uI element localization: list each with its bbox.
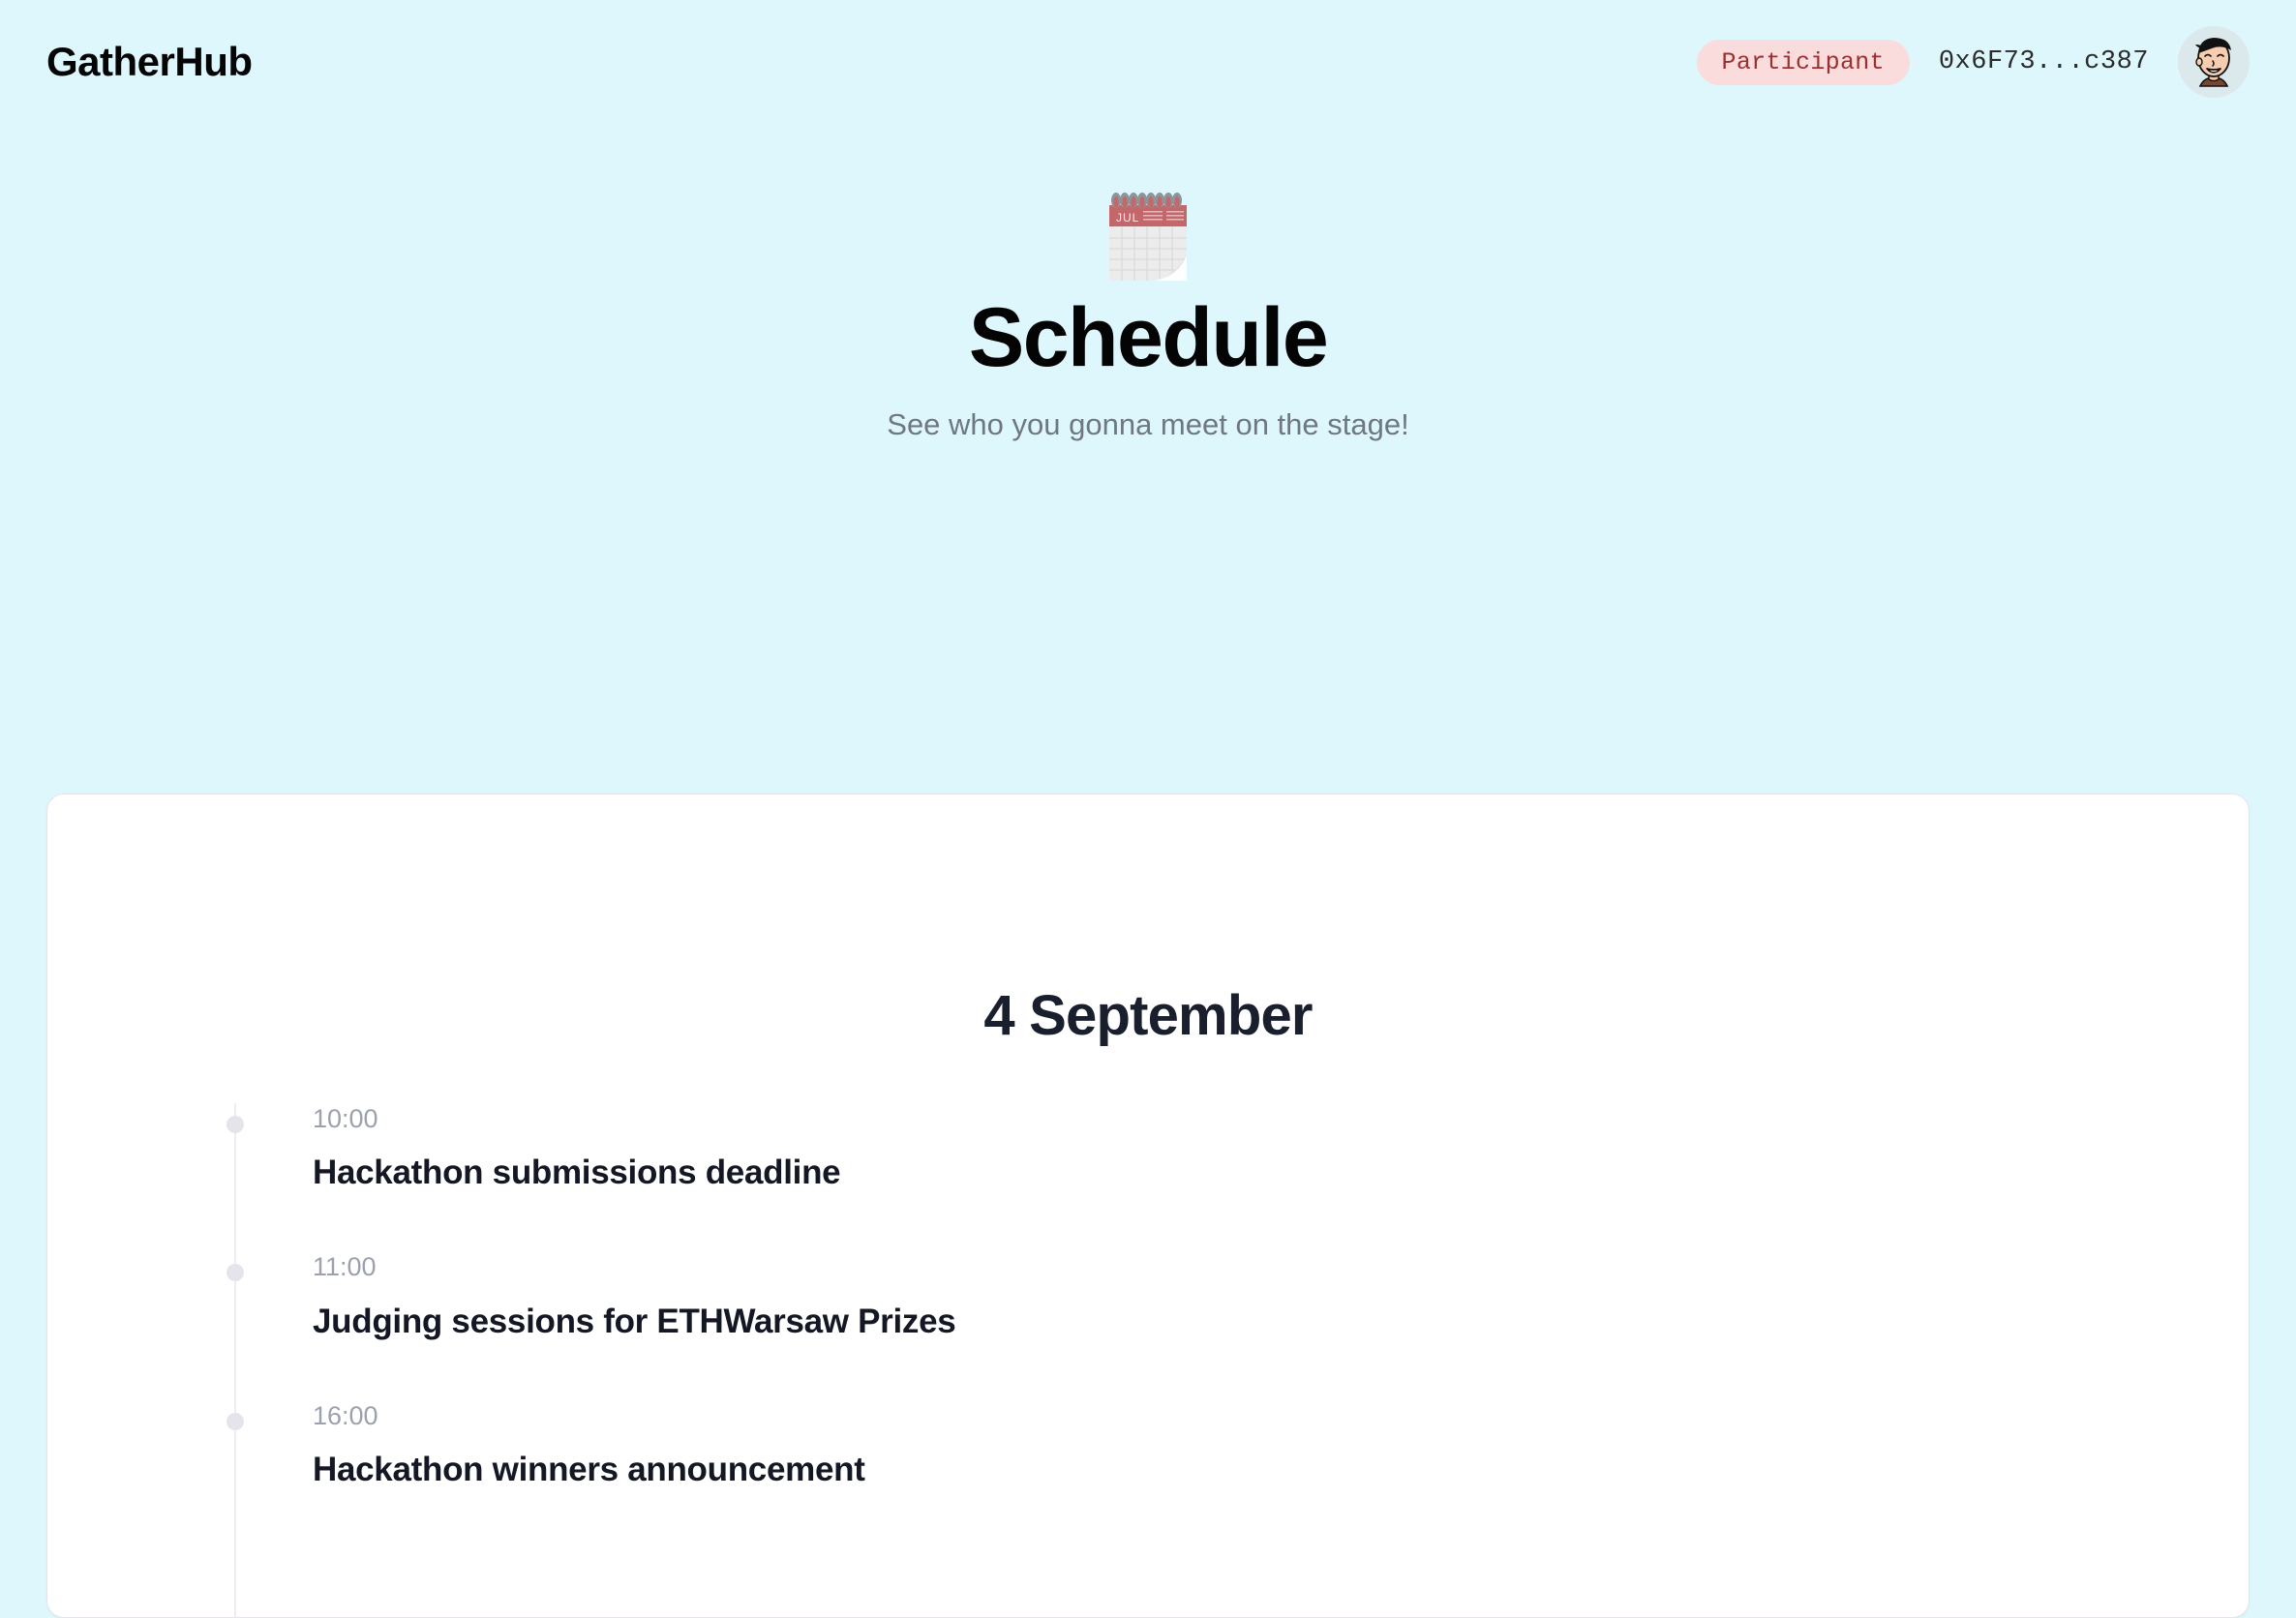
day-title: 4 September [47, 794, 2249, 1047]
schedule-item[interactable]: 11:00 Judging sessions for ETHWarsaw Pri… [233, 1251, 2249, 1399]
schedule-item[interactable]: 10:00 Hackathon submissions deadline [233, 1103, 2249, 1251]
role-badge: Participant [1697, 40, 1910, 85]
schedule-card: 4 September 10:00 Hackathon submissions … [46, 794, 2250, 1618]
schedule-item-time: 16:00 [313, 1400, 2249, 1431]
timeline-dot-icon [227, 1413, 244, 1430]
page-title: Schedule [0, 294, 2296, 381]
avatar[interactable] [2178, 26, 2250, 98]
tear-off-calendar-icon: JUL [0, 188, 2296, 285]
schedule-item-title: Hackathon winners announcement [313, 1450, 2249, 1490]
timeline-dot-icon [227, 1116, 244, 1133]
schedule-item-time: 10:00 [313, 1103, 2249, 1134]
schedule-item-time: 11:00 [313, 1251, 2249, 1282]
app-header: GatherHub Participant 0x6F73...c387 [0, 0, 2296, 124]
schedule-item-title: Judging sessions for ETHWarsaw Prizes [313, 1302, 2249, 1342]
timeline-dot-icon [227, 1264, 244, 1281]
app-logo[interactable]: GatherHub [46, 42, 253, 82]
schedule-item-title: Hackathon submissions deadline [313, 1153, 2249, 1193]
hero-section: JUL [0, 124, 2296, 442]
schedule-timeline: 10:00 Hackathon submissions deadline 11:… [47, 1103, 2249, 1548]
schedule-item[interactable]: 16:00 Hackathon winners announcement [233, 1400, 2249, 1548]
page-subtitle: See who you gonna meet on the stage! [0, 406, 2296, 442]
avatar-illustration [2178, 26, 2250, 98]
header-right-cluster: Participant 0x6F73...c387 [1697, 26, 2250, 98]
svg-text:JUL: JUL [1116, 211, 1139, 225]
wallet-address[interactable]: 0x6F73...c387 [1939, 49, 2149, 75]
